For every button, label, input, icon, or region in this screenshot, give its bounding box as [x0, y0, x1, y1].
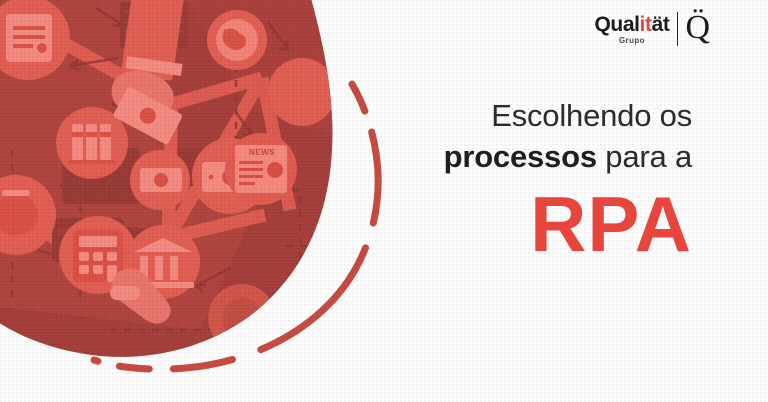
news-badge-circle: NEWS: [225, 133, 297, 205]
logo-text-accent: it: [640, 13, 652, 36]
headline-block: Escolhendo os processos para a RPA: [292, 96, 692, 266]
headline-line-2: processos para a: [292, 136, 692, 178]
logo-main-text: Qualität: [594, 14, 669, 35]
logo-q-mark: Q̈: [685, 11, 710, 45]
headline-emphasis: processos: [444, 139, 597, 174]
headline-acronym: RPA: [292, 182, 692, 266]
logo-wordmark: Qualität Grupo: [594, 14, 669, 45]
headline-line-2-rest: para a: [597, 139, 692, 174]
logo-text-part3: ät: [652, 13, 670, 36]
news-label: NEWS: [249, 148, 275, 157]
logo-subtitle: Grupo: [619, 37, 645, 45]
logo-divider: [677, 12, 678, 46]
headline-line-1: Escolhendo os: [292, 96, 692, 136]
promo-banner: NEWS Qualität Grupo Q̈ Escolhendo os pro…: [0, 0, 768, 402]
qualitat-logo[interactable]: Qualität Grupo Q̈: [594, 12, 710, 46]
logo-text-part1: Qual: [594, 13, 639, 36]
